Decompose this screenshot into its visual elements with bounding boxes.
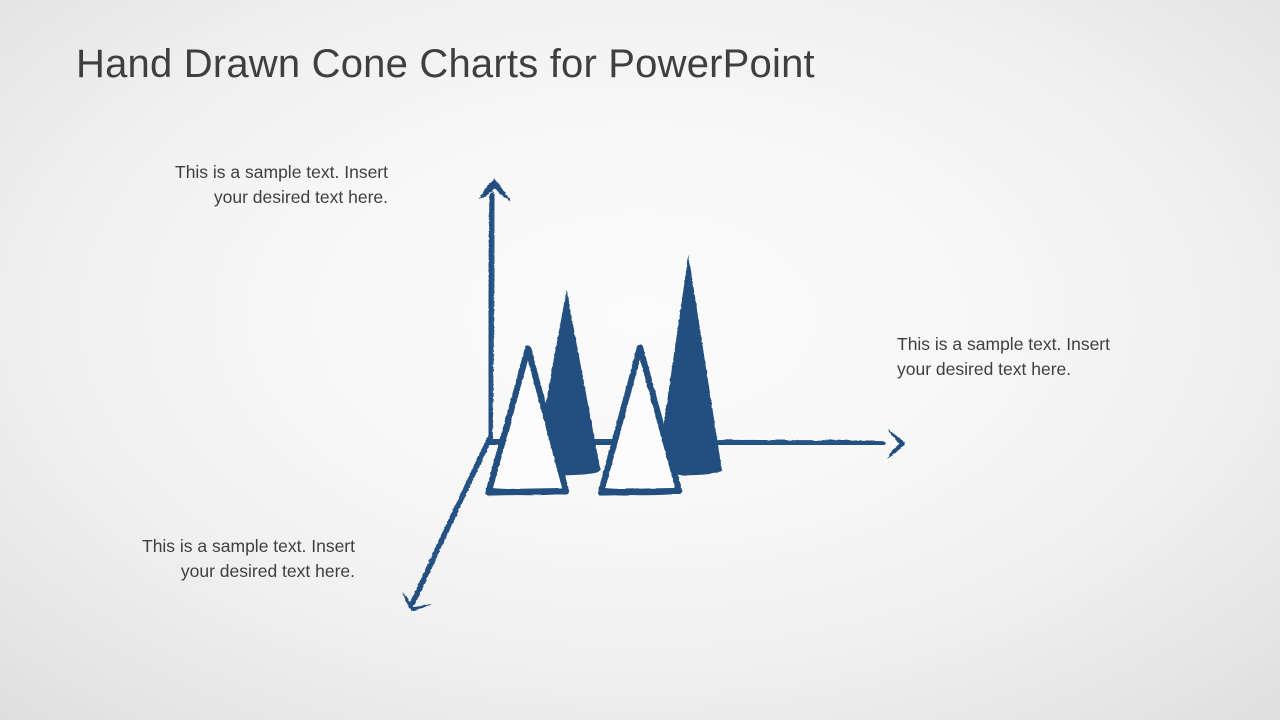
callout-right: This is a sample text. Insert your desir…: [897, 332, 1129, 382]
chart-cones: [489, 255, 723, 493]
z-axis: [413, 437, 491, 603]
callout-top-left: This is a sample text. Insert your desir…: [148, 160, 388, 210]
slide-canvas: Hand Drawn Cone Charts for PowerPoint: [0, 0, 1280, 720]
y-axis: [490, 196, 494, 441]
chevron-right-icon: [888, 429, 906, 459]
callout-bottom-left: This is a sample text. Insert your desir…: [115, 534, 355, 584]
